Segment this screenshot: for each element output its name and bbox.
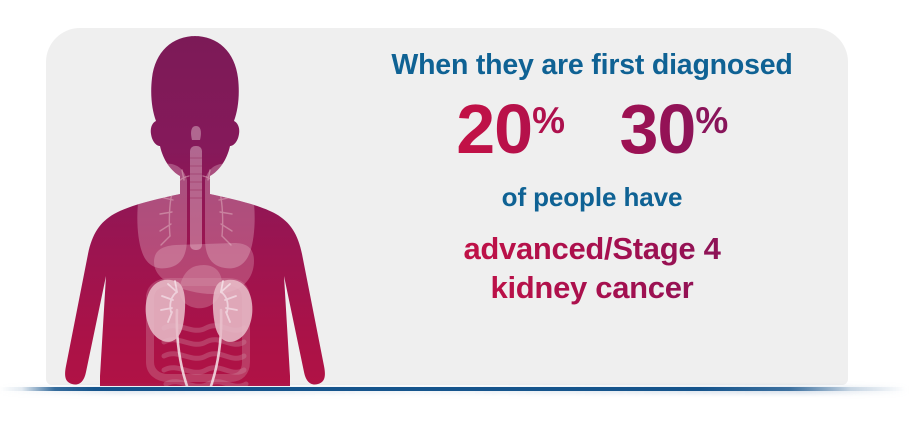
bottom-divider — [0, 386, 909, 392]
stat-connector: to — [565, 118, 620, 159]
stat-second-value: 30 — [619, 90, 695, 168]
human-torso-illustration — [46, 28, 376, 386]
text-block: When they are first diagnosed 20%to30% o… — [352, 50, 832, 308]
emphasis-line-2: kidney cancer — [352, 268, 832, 307]
headline-text: When they are first diagnosed — [352, 50, 832, 82]
infographic-root: When they are first diagnosed 20%to30% o… — [0, 0, 909, 431]
subline-text: of people have — [352, 182, 832, 213]
emphasis-line-1: advanced/Stage 4 — [352, 229, 832, 268]
statistic-line: 20%to30% — [352, 94, 832, 164]
divider-line — [0, 387, 909, 391]
stat-first-value: 20 — [456, 90, 532, 168]
stat-second-unit: % — [695, 100, 727, 141]
stat-first-unit: % — [532, 100, 564, 141]
emphasis-text: advanced/Stage 4 kidney cancer — [352, 229, 832, 308]
